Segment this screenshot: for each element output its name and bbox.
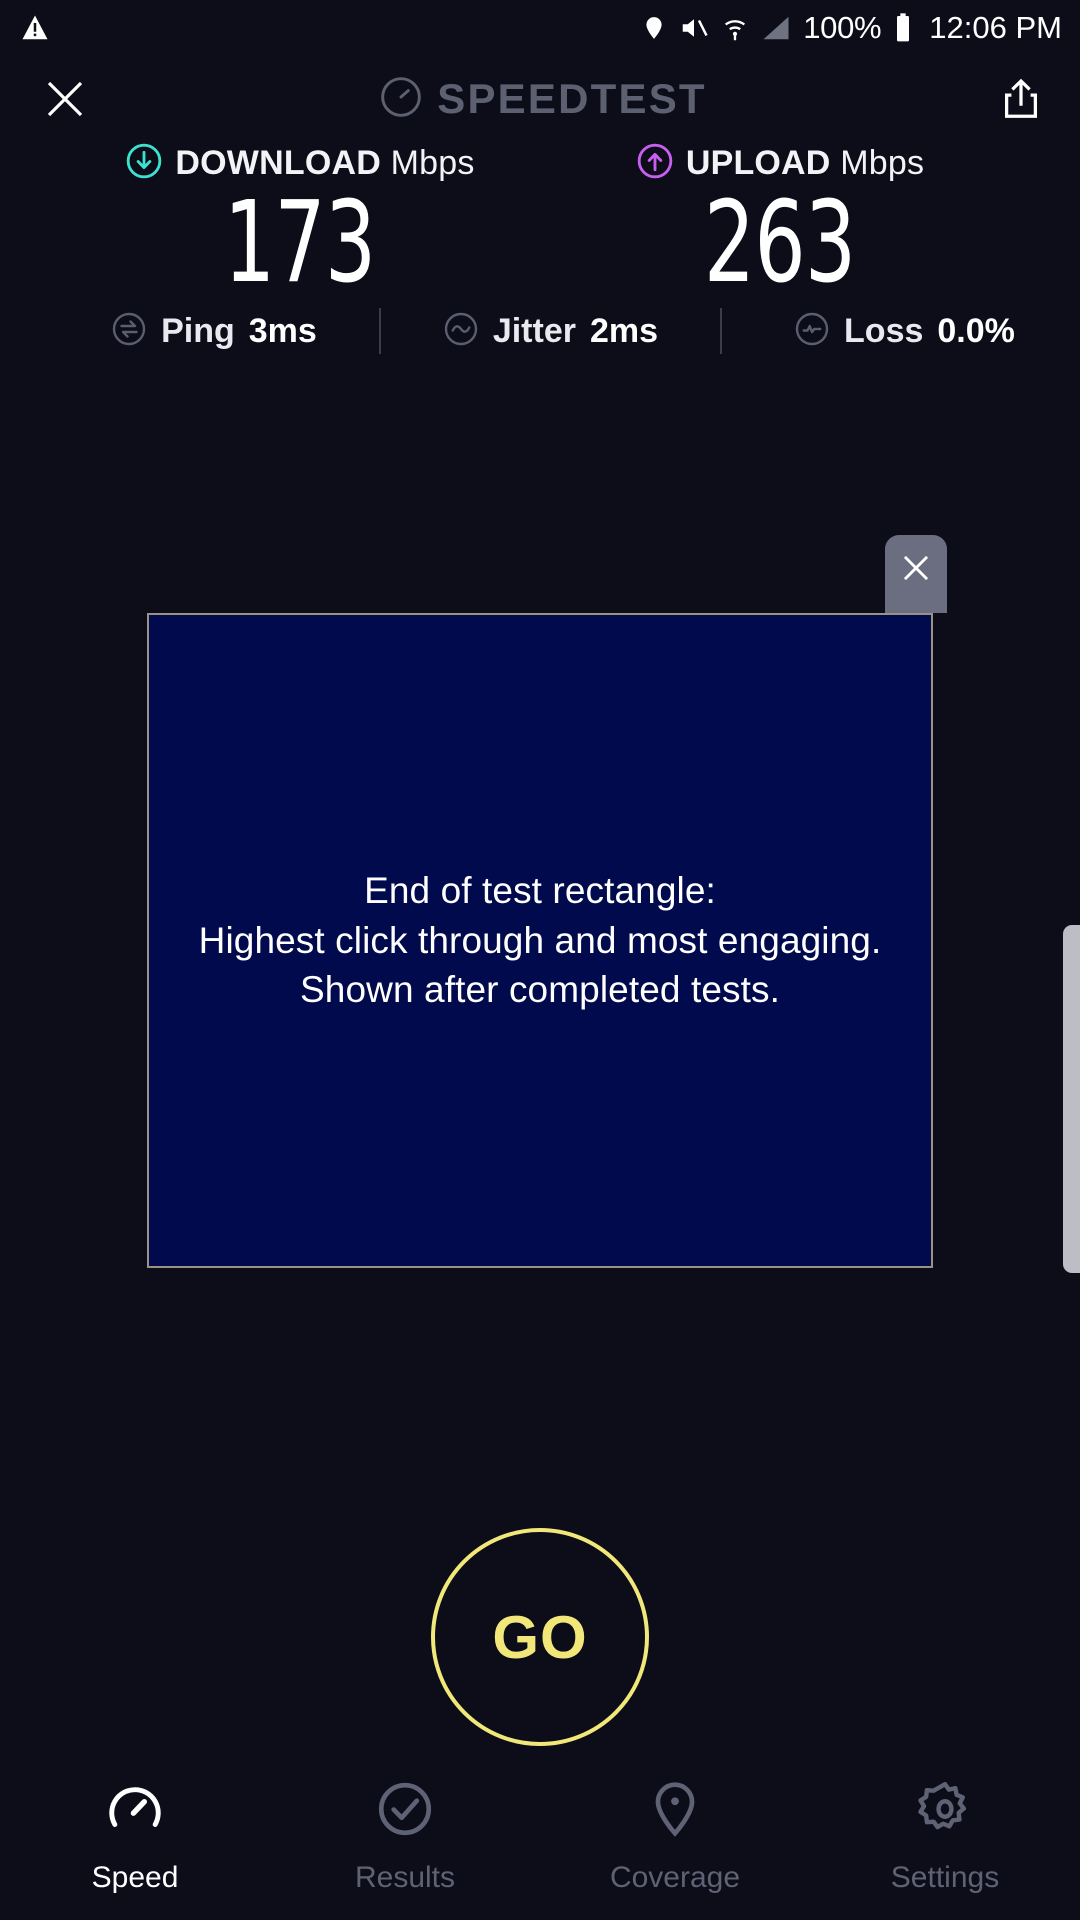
advertisement: End of test rectangle: Highest click thr… bbox=[147, 613, 933, 1268]
check-circle-icon bbox=[374, 1778, 436, 1845]
map-pin-icon bbox=[644, 1778, 706, 1845]
cellular-signal-icon bbox=[761, 13, 791, 43]
gear-icon bbox=[914, 1778, 976, 1845]
speedtest-app-screen: 100% 12:06 PM SPEEDTEST bbox=[0, 0, 1080, 1920]
metric-divider bbox=[720, 308, 722, 354]
status-clock: 12:06 PM bbox=[929, 10, 1062, 46]
nav-label-speed: Speed bbox=[92, 1861, 179, 1895]
go-button-wrapper: GO bbox=[0, 1528, 1080, 1746]
upload-unit: Mbps bbox=[840, 144, 924, 182]
status-bar: 100% 12:06 PM bbox=[0, 0, 1080, 56]
nav-item-speed[interactable]: Speed bbox=[0, 1778, 270, 1895]
nav-item-coverage[interactable]: Coverage bbox=[540, 1778, 810, 1895]
brand: SPEEDTEST bbox=[379, 75, 707, 124]
results-summary: DOWNLOAD Mbps 173 UPLOAD bbox=[0, 142, 1080, 299]
nav-item-settings[interactable]: Settings bbox=[810, 1778, 1080, 1895]
ad-close-button[interactable] bbox=[885, 535, 947, 613]
download-result: DOWNLOAD Mbps 173 bbox=[90, 142, 510, 299]
nav-item-results[interactable]: Results bbox=[270, 1778, 540, 1895]
speedtest-gauge-icon bbox=[379, 75, 423, 124]
metrics-row: Ping 3ms Jitter 2ms Los bbox=[0, 300, 1080, 362]
ping-icon bbox=[111, 311, 147, 352]
nav-label-results: Results bbox=[355, 1861, 455, 1895]
download-value: 173 bbox=[224, 187, 375, 299]
jitter-icon bbox=[443, 311, 479, 352]
nav-label-settings: Settings bbox=[891, 1861, 999, 1895]
share-button[interactable] bbox=[990, 68, 1052, 130]
battery-percent-label: 100% bbox=[803, 10, 881, 46]
ad-line-1: End of test rectangle: bbox=[199, 866, 882, 916]
upload-value: 263 bbox=[704, 187, 855, 299]
download-unit: Mbps bbox=[391, 144, 475, 182]
go-button-label: GO bbox=[492, 1603, 587, 1672]
metric-ping: Ping 3ms bbox=[111, 311, 317, 352]
wifi-icon bbox=[721, 13, 749, 43]
loss-icon bbox=[794, 311, 830, 352]
location-pin-icon bbox=[641, 13, 667, 43]
ad-line-3: Shown after completed tests. bbox=[199, 965, 882, 1015]
loss-value: 0.0% bbox=[937, 312, 1015, 351]
loss-label: Loss bbox=[844, 312, 923, 351]
ad-content[interactable]: End of test rectangle: Highest click thr… bbox=[147, 613, 933, 1268]
ping-label: Ping bbox=[161, 312, 235, 351]
battery-full-icon bbox=[893, 12, 913, 44]
upload-label: UPLOAD bbox=[686, 144, 831, 182]
arrow-down-circle-icon bbox=[125, 142, 163, 185]
jitter-label: Jitter bbox=[493, 312, 576, 351]
upload-result: UPLOAD Mbps 263 bbox=[570, 142, 990, 299]
metric-loss: Loss 0.0% bbox=[794, 311, 1015, 352]
close-button[interactable] bbox=[34, 68, 96, 130]
jitter-value: 2ms bbox=[590, 312, 658, 351]
vertical-scrollbar[interactable] bbox=[1063, 925, 1080, 1273]
app-title: SPEEDTEST bbox=[437, 75, 707, 123]
download-label: DOWNLOAD bbox=[175, 144, 381, 182]
bottom-navigation: Speed Results Coverage bbox=[0, 1764, 1080, 1920]
metric-jitter: Jitter 2ms bbox=[443, 311, 658, 352]
metric-divider bbox=[379, 308, 381, 354]
arrow-up-circle-icon bbox=[636, 142, 674, 185]
ping-value: 3ms bbox=[249, 312, 317, 351]
volume-muted-icon bbox=[679, 13, 709, 43]
nav-label-coverage: Coverage bbox=[610, 1861, 740, 1895]
go-button[interactable]: GO bbox=[431, 1528, 649, 1746]
speedometer-icon bbox=[104, 1778, 166, 1845]
warning-triangle-icon bbox=[20, 13, 50, 43]
ad-line-2: Highest click through and most engaging. bbox=[199, 916, 882, 966]
app-header: SPEEDTEST bbox=[0, 56, 1080, 142]
